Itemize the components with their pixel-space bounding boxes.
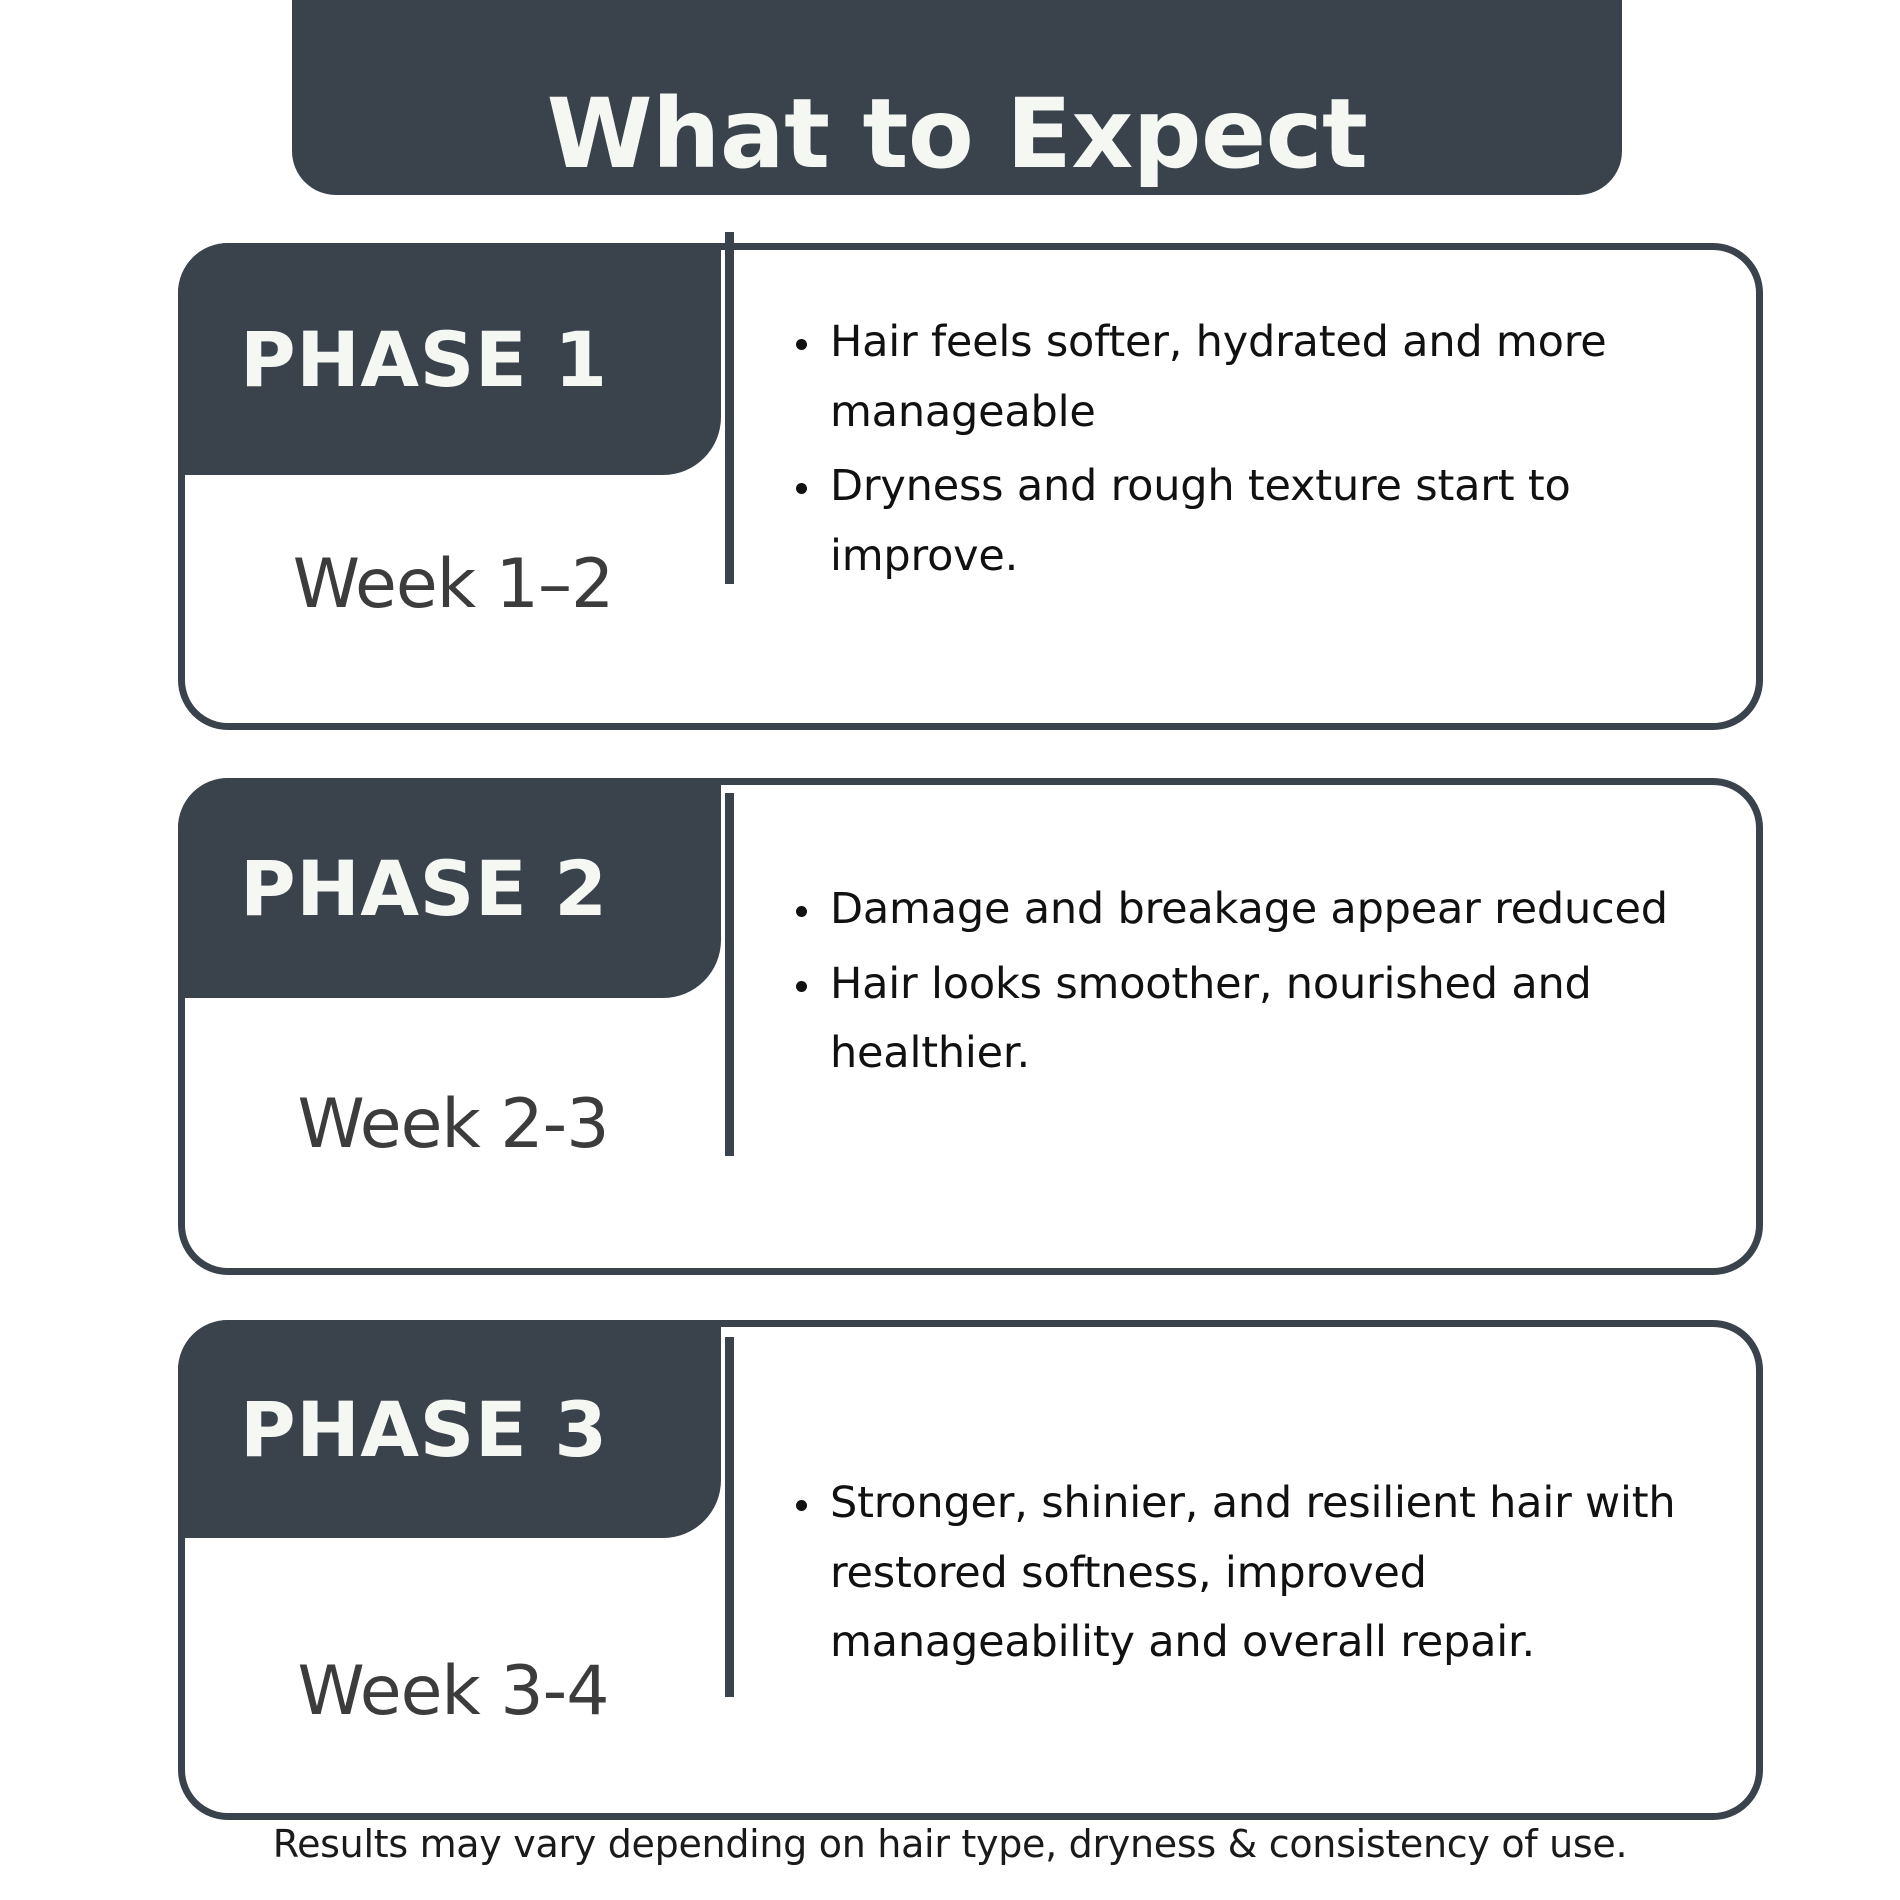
phase-card-3: PHASE 3 Week 3-4 Stronger, shinier, and … — [178, 1320, 1763, 1820]
phase-week-label-2: Week 2-3 — [185, 1085, 721, 1164]
footer-disclaimer: Results may vary depending on hair type,… — [0, 1822, 1900, 1866]
infographic-page: What to Expect PHASE 1 Week 1–2 Hair fee… — [0, 0, 1900, 1900]
phase-badge-label: PHASE 2 — [240, 844, 608, 933]
phase-divider-2 — [725, 793, 734, 1156]
phase-badge-label: PHASE 3 — [240, 1385, 608, 1474]
phase-divider-3 — [725, 1337, 734, 1697]
list-item: Dryness and rough texture start to impro… — [788, 452, 1713, 591]
header-banner: What to Expect — [292, 0, 1622, 195]
phase-bullet-list-3: Stronger, shinier, and resilient hair wi… — [788, 1469, 1713, 1678]
phase-badge-label: PHASE 1 — [240, 315, 608, 404]
list-item: Hair looks smoother, nourished and healt… — [788, 950, 1713, 1089]
phase-badge-3: PHASE 3 — [178, 1320, 721, 1538]
list-item: Stronger, shinier, and resilient hair wi… — [788, 1469, 1713, 1678]
phase-badge-2: PHASE 2 — [178, 778, 721, 998]
phase-badge-1: PHASE 1 — [178, 243, 721, 475]
list-item: Hair feels softer, hydrated and more man… — [788, 308, 1713, 447]
page-title: What to Expect — [547, 84, 1368, 185]
phase-week-label-3: Week 3-4 — [185, 1652, 721, 1731]
phase-week-label-1: Week 1–2 — [185, 545, 721, 624]
list-item: Damage and breakage appear reduced — [788, 875, 1713, 945]
phase-card-1: PHASE 1 Week 1–2 Hair feels softer, hydr… — [178, 243, 1763, 730]
phase-bullet-list-2: Damage and breakage appear reduced Hair … — [788, 875, 1713, 1089]
phase-bullet-list-1: Hair feels softer, hydrated and more man… — [788, 308, 1713, 592]
phase-divider-1 — [725, 232, 734, 584]
phase-card-2: PHASE 2 Week 2-3 Damage and breakage app… — [178, 778, 1763, 1275]
